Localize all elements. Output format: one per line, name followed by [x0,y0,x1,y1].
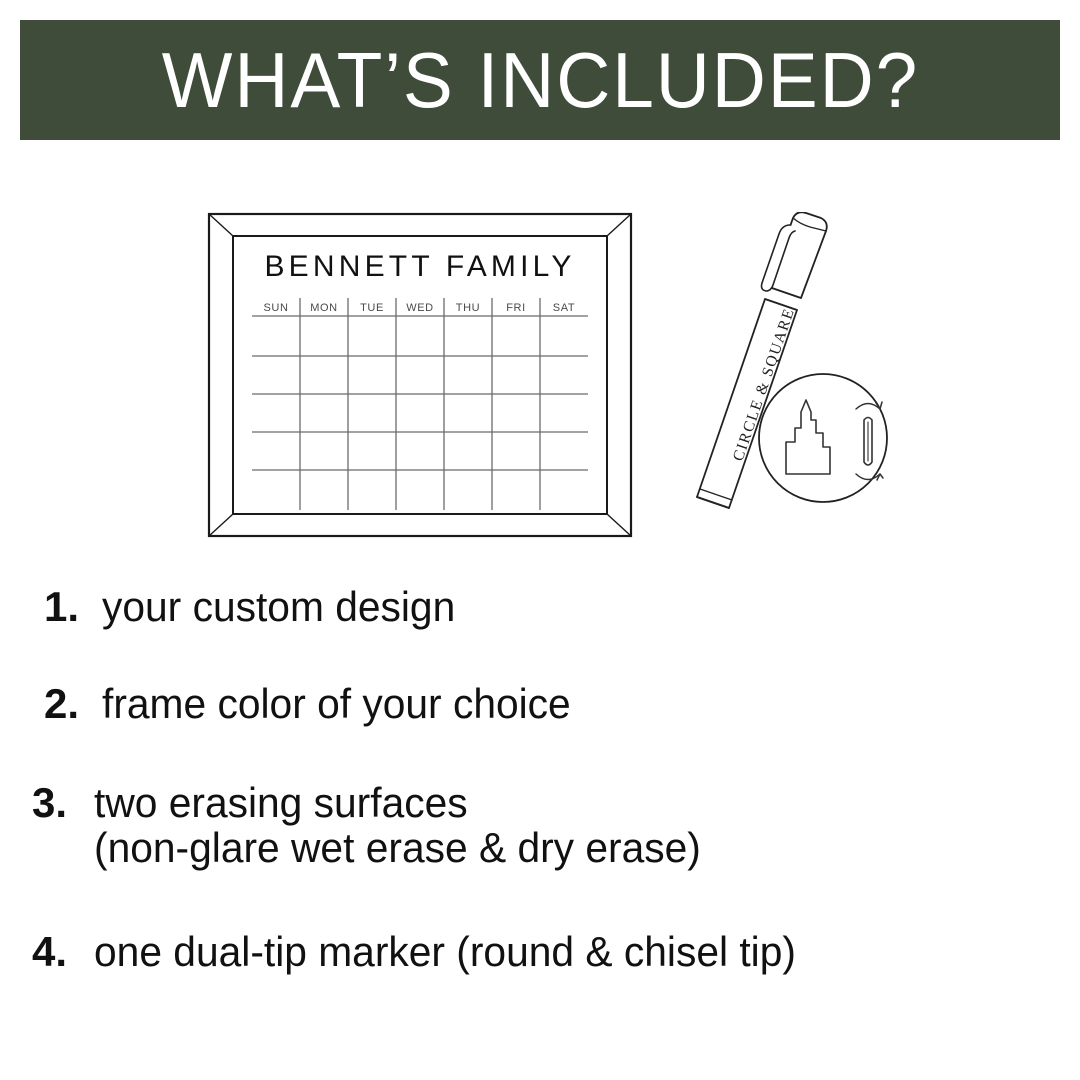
list-item-number: 4. [32,930,94,975]
day-label-sat: SAT [553,302,575,314]
list-item: 1. your custom design [44,585,466,630]
list-item-label: frame color of your choice [102,682,571,727]
list-item-number: 3. [32,781,94,826]
day-label-mon: MON [310,302,337,314]
list-item-label-secondary: (non-glare wet erase & dry erase) [94,826,701,871]
list-item-label: two erasing surfaces [94,779,468,826]
day-label-wed: WED [406,302,433,314]
page-title: WHAT’S INCLUDED? [161,41,918,119]
list-item-number: 2. [44,682,102,727]
list-item-label-group: two erasing surfaces (non-glare wet eras… [94,781,701,871]
marker-illustration: CIRCLE & SQUARE [690,212,910,532]
list-item: 2. frame color of your choice [44,682,585,727]
list-item: 4. one dual-tip marker (round & chisel t… [32,930,818,975]
board-title: BENNETT FAMILY [264,250,575,283]
list-item-label: one dual-tip marker (round & chisel tip) [94,930,796,975]
list-item-label: your custom design [102,585,455,630]
illustration-row: BENNETT FAMILY SUN MON TUE WED THU FRI S… [0,150,1080,580]
list-item-number: 1. [44,585,102,630]
day-label-sun: SUN [263,302,288,314]
list-item: 3. two erasing surfaces (non-glare wet e… [32,781,720,871]
header-banner: WHAT’S INCLUDED? [20,20,1060,140]
day-label-tue: TUE [360,302,384,314]
day-label-fri: FRI [506,302,526,314]
day-label-thu: THU [456,302,480,314]
calendar-board-illustration: BENNETT FAMILY SUN MON TUE WED THU FRI S… [205,210,635,540]
